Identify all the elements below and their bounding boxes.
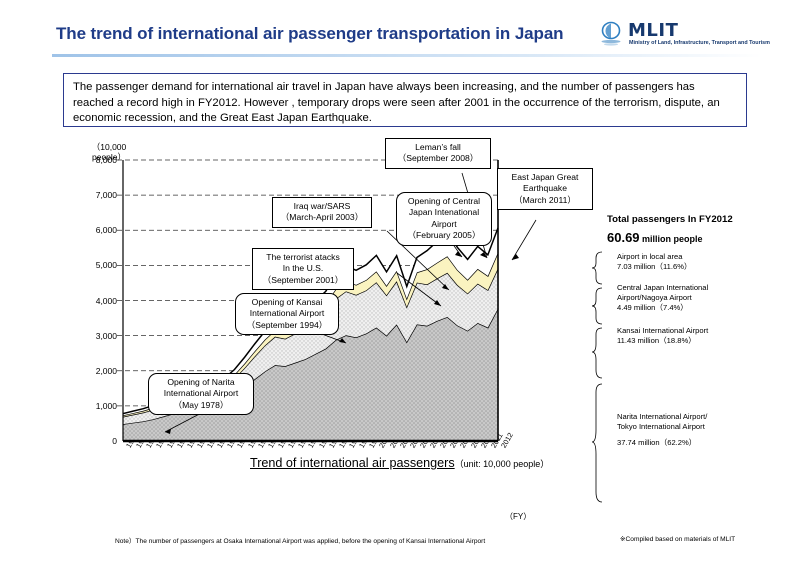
y-axis-tick: 0 (83, 436, 117, 446)
total-value-unit: million people (640, 234, 703, 244)
callout-line: Leman’s fall (391, 142, 485, 153)
series-label-name: Airport in local area (617, 252, 692, 262)
page-title: The trend of international air passenger… (56, 24, 563, 44)
mlit-logo-mark (600, 22, 622, 46)
callout-line: Opening of Kansai (241, 297, 333, 308)
series-label-value: 4.49 million（7.4%） (617, 303, 708, 313)
y-axis-tick: 5,000 (83, 260, 117, 270)
series-label-value: 11.43 million（18.8%） (617, 336, 708, 346)
callout-line: In the U.S. (258, 263, 348, 274)
series-label-name: Central Japan International (617, 283, 708, 293)
series-label-kansai: Kansai International Airport 11.43 milli… (617, 326, 708, 346)
callout-line: The terrorist atacks (258, 252, 348, 263)
series-label-value: 7.03 million（11.6%） (617, 262, 692, 272)
series-label-value: 37.74 million（62.2%） (617, 438, 707, 448)
mlit-logo-subtitle: Ministry of Land, Infrastructure, Transp… (629, 40, 770, 46)
y-axis-tick: 4,000 (83, 296, 117, 306)
callout-line: （September 2008） (391, 153, 485, 164)
series-label-chubu: Central Japan International Airport/Nago… (617, 283, 708, 313)
mlit-logo: MLIT Ministry of Land, Infrastructure, T… (600, 20, 770, 54)
chart-inner-caption-unit: （unit: 10,000 people） (455, 459, 550, 469)
callout-line: International Airport (241, 308, 333, 319)
callout-line: International Airport (154, 388, 248, 399)
footer-note: Note）The number of passengers at Osaka I… (115, 535, 485, 545)
series-label-name2: Airport/Nagoya Airport (617, 293, 708, 303)
y-axis-tick: 1,000 (83, 401, 117, 411)
y-axis-tick: 7,000 (83, 190, 117, 200)
callout-line: （May 1978） (154, 400, 248, 411)
callout-line: Japan Intenational (402, 207, 486, 218)
y-axis-tick: 3,000 (83, 331, 117, 341)
footer-source: ※Compiled based on materials of MLIT (620, 535, 735, 543)
series-label-narita-haneda: Narita International Airport/ Tokyo Inte… (617, 412, 707, 448)
summary-paragraph: The passenger demand for international a… (73, 80, 738, 127)
y-axis-tick: 8,000 (83, 155, 117, 165)
callout-line: （February 2005） (402, 230, 486, 241)
series-label-name: Narita International Airport/ (617, 412, 707, 422)
callout-lehman-fall[interactable]: Leman’s fall （September 2008） (385, 138, 491, 169)
series-label-local-airports: Airport in local area 7.03 million（11.6%… (617, 252, 692, 272)
callout-line: （March 2011） (503, 195, 587, 206)
callout-line: Opening of Central (402, 196, 486, 207)
callout-east-japan-earthquake[interactable]: East Japan Great Earthquake （March 2011） (497, 168, 593, 210)
series-label-name2: Tokyo International Airport (617, 422, 707, 432)
callout-line: Iraq war/SARS (278, 201, 366, 212)
chart-container: （10,000people） 01,0002,0003,0004,0005,00… (0, 130, 810, 550)
callout-line: Airport (402, 219, 486, 230)
callout-line: East Japan Great (503, 172, 587, 183)
callout-chubu-opening[interactable]: Opening of Central Japan Intenational Ai… (396, 192, 492, 246)
callout-line: Earthquake (503, 183, 587, 194)
y-axis-tick: 2,000 (83, 366, 117, 376)
callout-line: （September 1994） (241, 320, 333, 331)
series-brace-group (592, 250, 616, 510)
callout-line: （March-April 2003） (278, 212, 366, 223)
total-passengers-caption: Total passengers In FY2012 (607, 214, 733, 225)
callout-terrorist-attacks[interactable]: The terrorist atacks In the U.S. （Septem… (252, 248, 354, 290)
chart-inner-caption: Trend of international air passengers（un… (240, 453, 559, 472)
callout-line: （September 2001） (258, 275, 348, 286)
callout-iraq-war-sars[interactable]: Iraq war/SARS （March-April 2003） (272, 197, 372, 228)
callout-line: Opening of Narita (154, 377, 248, 388)
total-passengers-value: 60.69 million people (607, 230, 703, 245)
chart-inner-caption-text: Trend of international air passengers (250, 456, 455, 470)
callout-kansai-opening[interactable]: Opening of Kansai International Airport … (235, 293, 339, 335)
callout-narita-opening[interactable]: Opening of Narita International Airport … (148, 373, 254, 415)
x-axis-unit-label: （FY） (505, 511, 531, 522)
page-header: The trend of international air passenger… (0, 0, 810, 62)
series-label-name: Kansai International Airport (617, 326, 708, 336)
total-value-number: 60.69 (607, 230, 640, 245)
summary-text-box: The passenger demand for international a… (63, 73, 747, 127)
title-divider (52, 54, 762, 57)
y-axis-tick: 6,000 (83, 225, 117, 235)
mlit-logo-wordmark: MLIT (628, 20, 678, 41)
